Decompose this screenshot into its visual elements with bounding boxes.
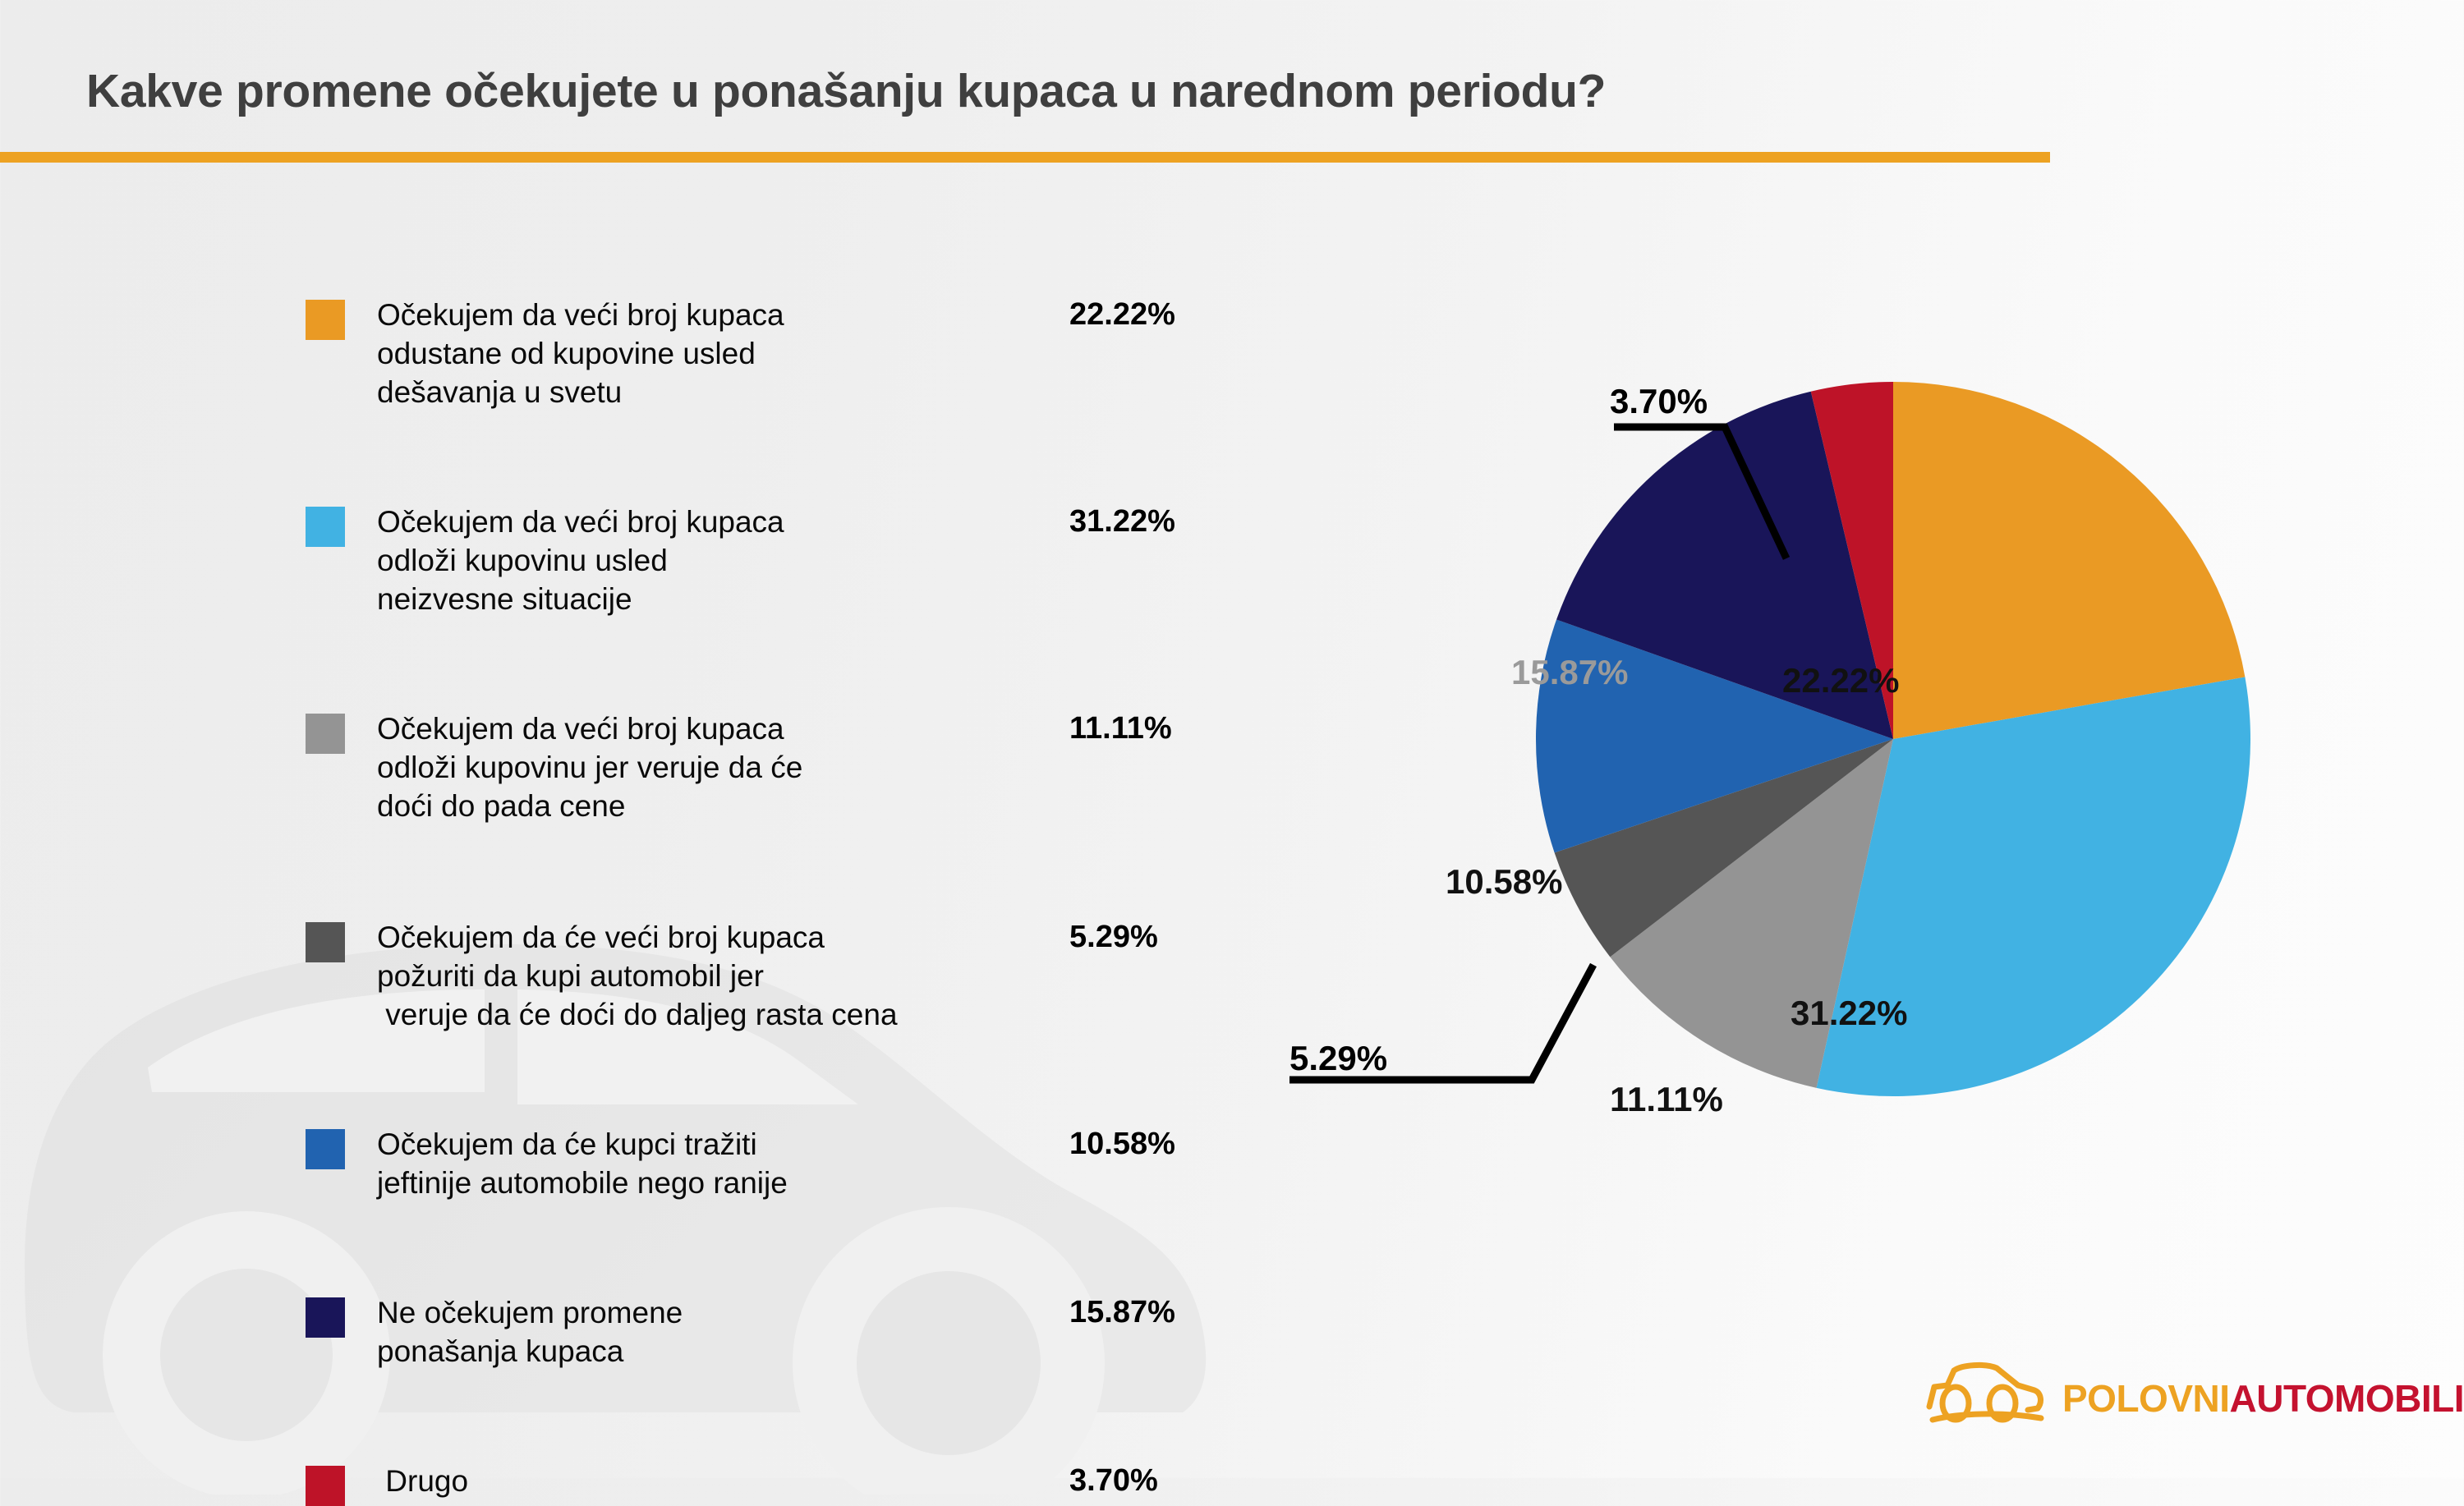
car-outline-icon [1926, 1359, 2048, 1438]
pie-slice-label: 3.70% [1610, 382, 1708, 421]
legend-item-value: 31.22% [1069, 503, 1225, 541]
pie-chart: 22.22%31.22%11.11%5.29%10.58%15.87%3.70% [1281, 312, 2448, 1330]
pie-slice [1893, 382, 2245, 739]
legend-item-value: 10.58% [1069, 1125, 1225, 1164]
legend-item-label-line: Drugo [377, 1462, 1042, 1500]
pie-chart-svg [1281, 312, 2448, 1330]
pie-slice-label: 31.22% [1791, 994, 1907, 1033]
legend-color-swatch [306, 1466, 345, 1506]
page-title: Kakve promene očekujete u ponašanju kupa… [86, 64, 1606, 118]
legend-item: Očekujem da veći broj kupacaodloži kupov… [306, 503, 1225, 618]
legend-item: Očekujem da veći broj kupacaodustane od … [306, 296, 1225, 411]
legend-item-label-line: Očekujem da će veći broj kupaca [377, 918, 1042, 957]
legend-item: Očekujem da veći broj kupacaodloži kupov… [306, 709, 1225, 825]
legend-item-label: Očekujem da veći broj kupacaodloži kupov… [377, 503, 1042, 618]
legend-item-label: Očekujem da će kupci tražitijeftinije au… [377, 1125, 1042, 1202]
logo-wordmark: POLOVNIAUTOMOBILI [2062, 1380, 2464, 1417]
legend-item-label-line: odloži kupovinu usled [377, 541, 1042, 580]
legend-color-swatch [306, 507, 345, 547]
legend-item-label-line: Ne očekujem promene [377, 1293, 1042, 1332]
legend-color-swatch [306, 714, 345, 754]
legend-item-value: 22.22% [1069, 296, 1225, 334]
pie-slice-label: 22.22% [1782, 661, 1899, 700]
legend-item-label: Očekujem da će veći broj kupacapožuriti … [377, 918, 1042, 1034]
legend-item-value: 15.87% [1069, 1293, 1225, 1332]
legend-item: Očekujem da će kupci tražitijeftinije au… [306, 1125, 1225, 1202]
pie-slice-label: 15.87% [1511, 653, 1628, 692]
legend-item-label-line: odloži kupovinu jer veruje da će [377, 748, 1042, 787]
legend-item-value: 5.29% [1069, 918, 1225, 957]
legend-item-label: Drugo [377, 1462, 1042, 1500]
pie-slice-label: 5.29% [1289, 1039, 1387, 1078]
legend-item-label: Očekujem da veći broj kupacaodloži kupov… [377, 709, 1042, 825]
legend-item-label: Očekujem da veći broj kupacaodustane od … [377, 296, 1042, 411]
pie-slice-label: 11.11% [1610, 1080, 1723, 1119]
legend-item-label-line: odustane od kupovine usled [377, 334, 1042, 373]
logo-text-primary: POLOVNI [2062, 1377, 2230, 1420]
legend-item-label-line: Očekujem da veći broj kupaca [377, 296, 1042, 334]
legend-color-swatch [306, 1297, 345, 1338]
legend-item-label: Ne očekujem promeneponašanja kupaca [377, 1293, 1042, 1371]
legend-color-swatch [306, 922, 345, 962]
logo-text-secondary: AUTOMOBILI [2230, 1377, 2464, 1420]
pie-slice-group [1536, 382, 2250, 1096]
brand-logo[interactable]: POLOVNIAUTOMOBILI [1926, 1359, 2464, 1438]
legend-item-label-line: Očekujem da veći broj kupaca [377, 709, 1042, 748]
legend-color-swatch [306, 300, 345, 340]
legend-item-label-line: Očekujem da veći broj kupaca [377, 503, 1042, 541]
legend-item-label-line: ponašanja kupaca [377, 1332, 1042, 1371]
legend-item-label-line: neizvesne situacije [377, 580, 1042, 618]
legend-item: Očekujem da će veći broj kupacapožuriti … [306, 918, 1225, 1034]
legend-item-label-line: veruje da će doći do daljeg rasta cena [377, 995, 1042, 1034]
legend-item-value: 3.70% [1069, 1462, 1225, 1500]
legend-item-label-line: Očekujem da će kupci tražiti [377, 1125, 1042, 1164]
pie-slice-label: 10.58% [1446, 862, 1562, 902]
legend-item: Drugo3.70% [306, 1462, 1225, 1506]
legend-item-label-line: dešavanja u svetu [377, 373, 1042, 411]
legend-item-label-line: požuriti da kupi automobil jer [377, 957, 1042, 995]
legend-item-value: 11.11% [1069, 709, 1225, 748]
title-underline-rule [0, 152, 2050, 163]
legend-color-swatch [306, 1129, 345, 1169]
chart-legend: Očekujem da veći broj kupacaodustane od … [306, 296, 1225, 1506]
legend-item-label-line: doći do pada cene [377, 787, 1042, 825]
legend-item-label-line: jeftinije automobile nego ranije [377, 1164, 1042, 1202]
legend-item: Ne očekujem promeneponašanja kupaca15.87… [306, 1293, 1225, 1371]
